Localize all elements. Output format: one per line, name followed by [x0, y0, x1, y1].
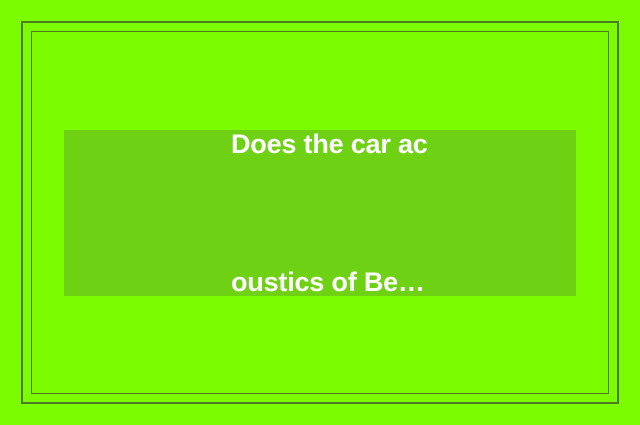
- headline-line-1: Does the car ac: [231, 121, 428, 167]
- headline-line-2: oustics of Be…: [231, 259, 428, 305]
- content-panel: Does the car ac oustics of Be…: [64, 130, 576, 296]
- headline-text-block: Does the car ac oustics of Be…: [64, 29, 428, 397]
- slide-canvas: Does the car ac oustics of Be…: [0, 0, 640, 425]
